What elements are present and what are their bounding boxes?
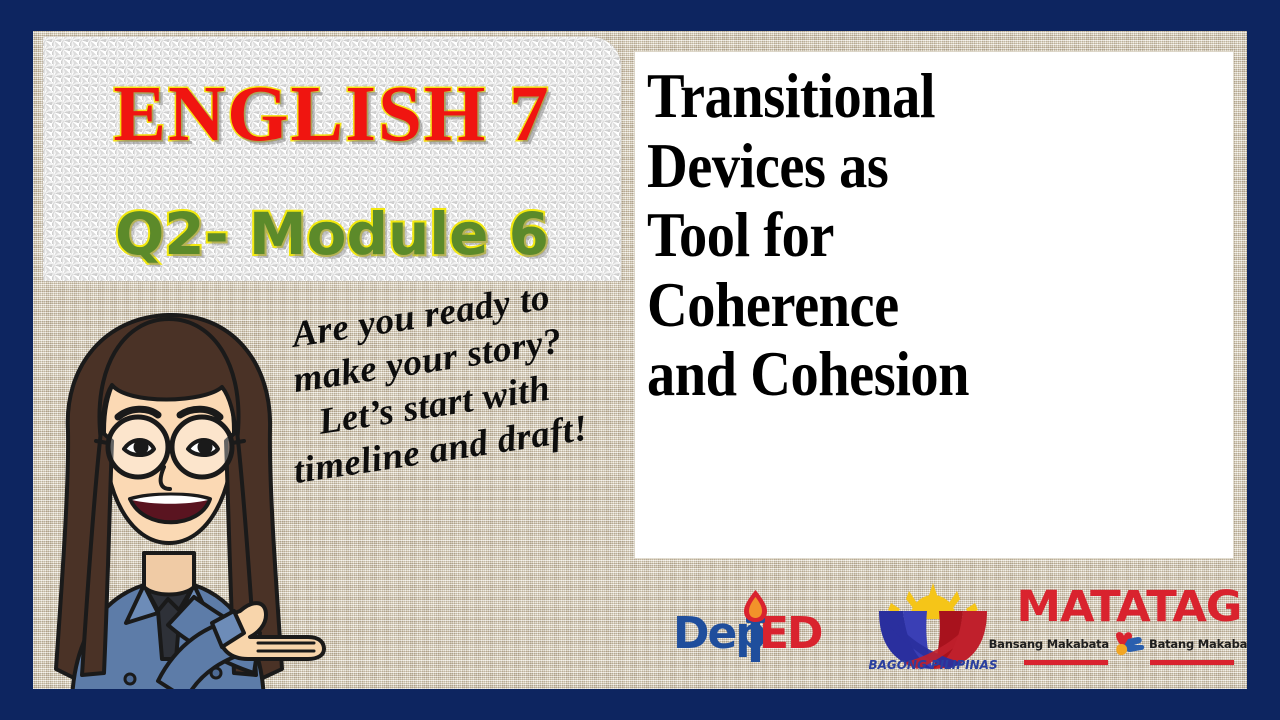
title-line: Transitional — [647, 62, 1226, 132]
subject-title: ENGLISH 7 — [43, 75, 621, 154]
matatag-underline-bars — [1020, 660, 1238, 665]
module-subtitle: Q2- Module 6 — [43, 205, 621, 263]
title-line: Devices as — [647, 132, 1226, 202]
matatag-tagline-right: Batang Makabansa — [1149, 637, 1247, 651]
teacher-avatar — [33, 281, 328, 689]
header-plaque: ENGLISH 7 Q2- Module 6 — [43, 37, 621, 281]
matatag-wordmark: MATATAG — [1016, 586, 1243, 629]
burlap-canvas: ENGLISH 7 Q2- Module 6 Are you ready to … — [33, 31, 1247, 689]
matatag-taglines: Bansang Makabata Batang Makabansa — [1020, 631, 1238, 657]
matatag-logo: MATATAG Bansang Makabata Batang Makabans… — [1020, 586, 1238, 668]
logo-strip: Dep ED — [673, 579, 1238, 675]
title-line: Coherence — [647, 271, 1226, 341]
bagong-pilipinas-logo: BAGONG PILIPINAS — [869, 581, 997, 673]
lesson-title: Transitional Devices as Tool for Coheren… — [647, 62, 1226, 410]
bagong-pilipinas-caption: BAGONG PILIPINAS — [869, 658, 997, 672]
heart-hands-icon — [1112, 631, 1146, 657]
title-line: Tool for — [647, 201, 1226, 271]
matatag-tagline-left: Bansang Makabata — [989, 637, 1109, 651]
deped-logo: Dep ED — [673, 590, 845, 664]
svg-text:ED: ED — [759, 608, 822, 659]
matatag-bar-left — [1024, 660, 1108, 665]
title-line: and Cohesion — [647, 340, 1226, 410]
title-card: Transitional Devices as Tool for Coheren… — [635, 52, 1233, 558]
matatag-bar-right — [1150, 660, 1234, 665]
slide-root: ENGLISH 7 Q2- Module 6 Are you ready to … — [0, 0, 1280, 720]
